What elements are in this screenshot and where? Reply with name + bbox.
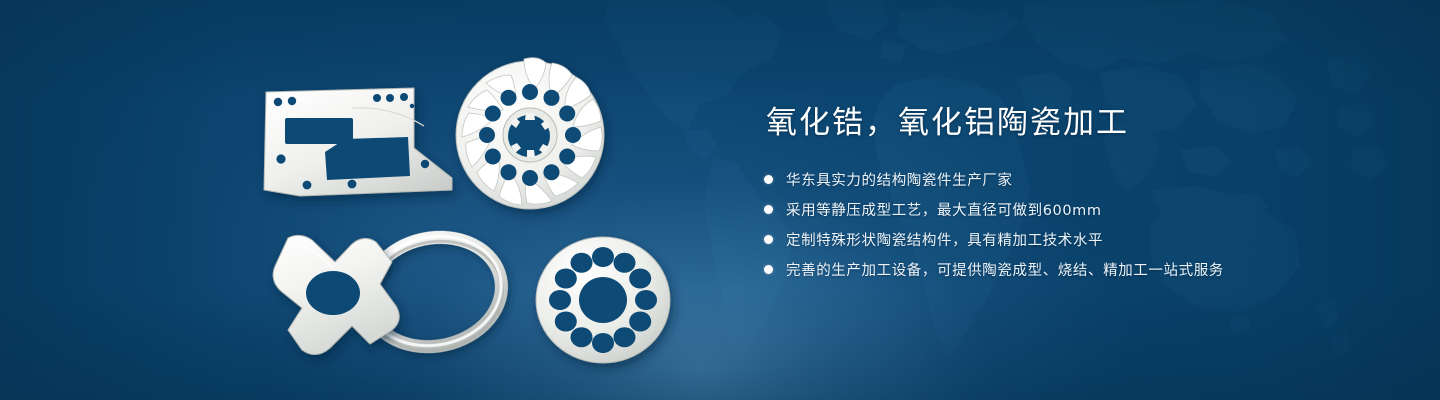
bullet-dot-icon (764, 175, 773, 184)
feature-list-item: 完善的生产加工设备，可提供陶瓷成型、烧结、精加工一站式服务 (764, 259, 1384, 281)
feature-text: 华东具实力的结构陶瓷件生产厂家 (786, 169, 1013, 190)
banner-copy: 氧化锆，氧化铝陶瓷加工 华东具实力的结构陶瓷件生产厂家 采用等静压成型工艺，最大… (764, 104, 1384, 289)
ceramic-machined-plate-shape (264, 88, 452, 196)
feature-list-item: 采用等静压成型工艺，最大直径可做到600mm (764, 199, 1384, 221)
banner-headline: 氧化锆，氧化铝陶瓷加工 (766, 104, 1384, 143)
feature-list: 华东具实力的结构陶瓷件生产厂家 采用等静压成型工艺，最大直径可做到600mm 定… (764, 169, 1384, 281)
ceramic-products-image (0, 0, 720, 400)
feature-text: 完善的生产加工设备，可提供陶瓷成型、烧结、精加工一站式服务 (786, 259, 1224, 280)
feature-list-item: 华东具实力的结构陶瓷件生产厂家 (764, 169, 1384, 191)
ceramic-cross-vane-shape (273, 235, 399, 354)
bullet-dot-icon (764, 235, 773, 244)
hero-banner: 氧化锆，氧化铝陶瓷加工 华东具实力的结构陶瓷件生产厂家 采用等静压成型工艺，最大… (0, 0, 1440, 400)
ceramic-perforated-disc-shape (536, 237, 670, 363)
feature-text: 采用等静压成型工艺，最大直径可做到600mm (786, 199, 1102, 220)
bullet-dot-icon (764, 265, 773, 274)
bullet-dot-icon (764, 205, 773, 214)
feature-text: 定制特殊形状陶瓷结构件，具有精加工技术水平 (786, 229, 1103, 250)
ceramic-impeller-wheel-shape (456, 58, 604, 209)
feature-list-item: 定制特殊形状陶瓷结构件，具有精加工技术水平 (764, 229, 1384, 251)
